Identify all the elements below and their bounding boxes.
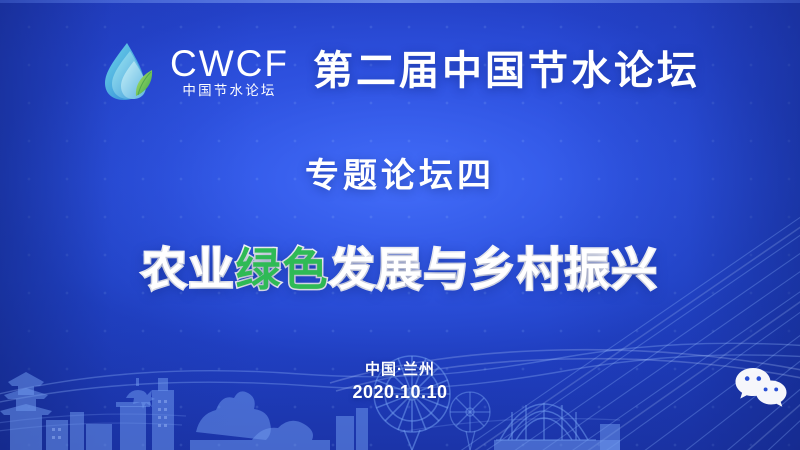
- forum-headline: 农业绿色发展与乡村振兴: [0, 233, 800, 298]
- presentation-slide: CWCF 中国节水论坛 第二届中国节水论坛 专题论坛四 农业绿色发展与乡村振兴 …: [0, 0, 800, 450]
- logo-chinese-name: 中国节水论坛: [182, 84, 276, 98]
- water-drop-leaf-logo-icon: [100, 40, 156, 102]
- headline-segment-1: 农业: [141, 244, 235, 295]
- headline-segment-3: 发展与乡村振兴: [330, 244, 659, 295]
- wechat-icon: [734, 364, 788, 408]
- page-title: 第二届中国节水论坛: [313, 51, 700, 91]
- event-footer: 中国·兰州 2020.10.10: [0, 360, 800, 405]
- logo-wordmark: CWCF 中国节水论坛: [170, 45, 289, 98]
- logo-acronym: CWCF: [170, 45, 289, 82]
- logo-and-title-row: CWCF 中国节水论坛 第二届中国节水论坛: [0, 40, 800, 102]
- headline-segment-2-accent: 绿色: [235, 244, 329, 295]
- event-location: 中国·兰州: [0, 360, 800, 380]
- forum-subtitle: 专题论坛四: [0, 148, 800, 197]
- event-date: 2020.10.10: [0, 380, 800, 404]
